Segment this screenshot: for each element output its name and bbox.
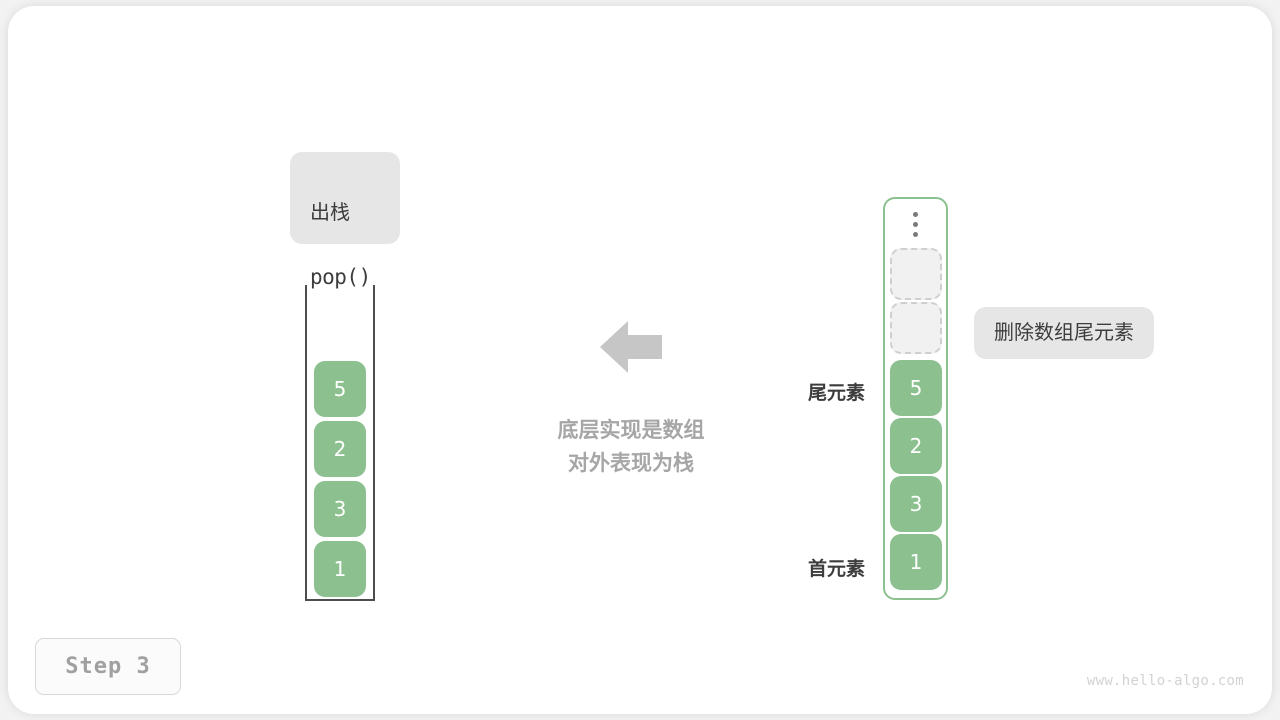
ellipsis-dot (913, 232, 918, 237)
step-badge: Step 3 (35, 638, 181, 695)
array-cell: 3 (890, 476, 942, 532)
array-cell: 1 (890, 534, 942, 590)
vertical-ellipsis-icon (883, 199, 948, 245)
stack-cell: 1 (314, 541, 366, 597)
ellipsis-dot (913, 222, 918, 227)
array-empty-slot (890, 248, 942, 300)
stack-cell: 5 (314, 361, 366, 417)
arrow-left-icon (600, 318, 662, 376)
array-cell: 5 (890, 360, 942, 416)
array-empty-slot-list (889, 248, 943, 356)
array-cell-list: 5 2 3 1 (889, 360, 943, 590)
array-empty-slot (890, 302, 942, 354)
diagram-canvas: 出栈 pop() 5 2 3 1 底层实现是数组 对外表现为栈 尾元素 首元素 … (0, 0, 1280, 720)
label-head-element: 首元素 (745, 554, 865, 581)
pop-callout-label: 出栈 (310, 198, 400, 228)
array-cell: 2 (890, 418, 942, 474)
stack-cell: 2 (314, 421, 366, 477)
delete-tail-callout: 删除数组尾元素 (974, 307, 1154, 359)
label-tail-element: 尾元素 (745, 378, 865, 405)
center-caption-line2: 对外表现为栈 (481, 447, 781, 480)
center-caption: 底层实现是数组 对外表现为栈 (481, 414, 781, 480)
pop-callout: 出栈 pop() (290, 152, 400, 244)
ellipsis-dot (913, 212, 918, 217)
stack-cell: 3 (314, 481, 366, 537)
center-caption-line1: 底层实现是数组 (481, 414, 781, 447)
watermark: www.hello-algo.com (1087, 673, 1244, 689)
stack-cell-list: 5 2 3 1 (305, 361, 375, 597)
